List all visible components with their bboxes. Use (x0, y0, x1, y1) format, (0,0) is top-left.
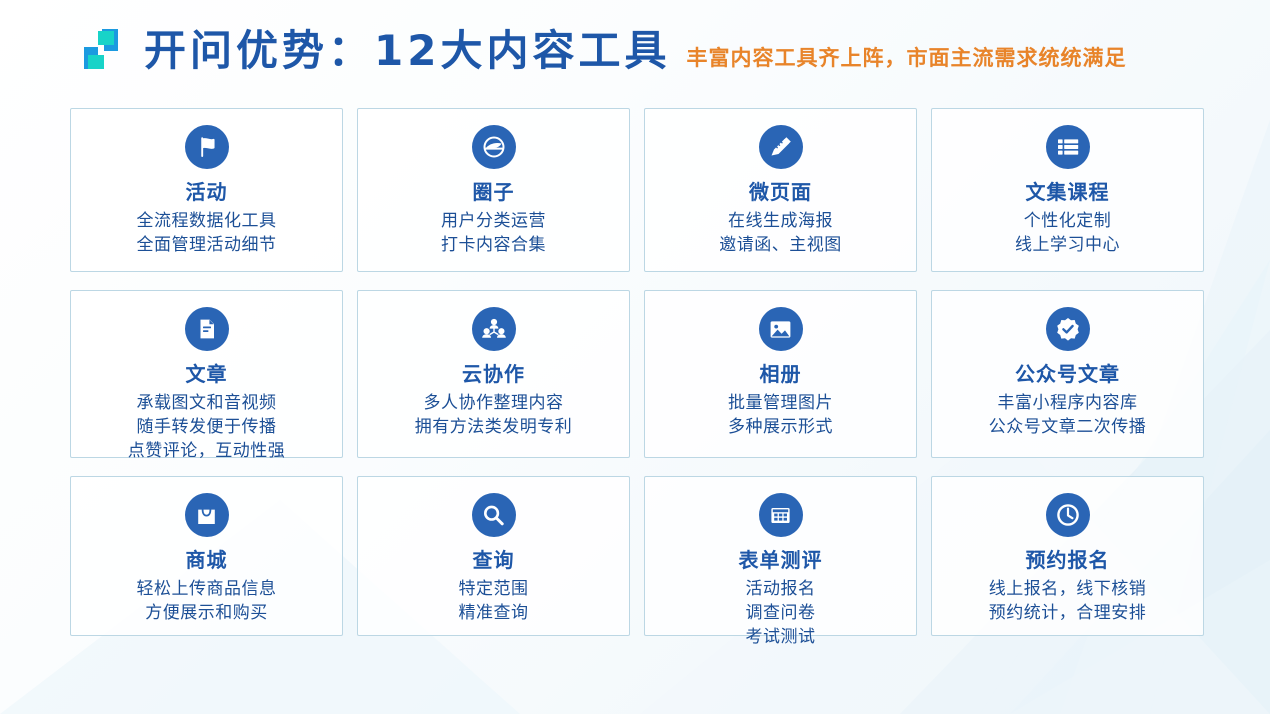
tool-card-description-line: 随手转发便于传播 (128, 415, 286, 439)
tool-card-description: 在线生成海报邀请函、主视图 (719, 209, 842, 257)
tool-card-description: 线上报名，线下核销预约统计，合理安排 (989, 577, 1147, 625)
tool-card-description: 轻松上传商品信息方便展示和购买 (137, 577, 277, 625)
kaiwen-logo-icon (76, 25, 126, 75)
tool-card-description: 特定范围精准查询 (459, 577, 529, 625)
tool-card-description-line: 线上学习中心 (1015, 233, 1120, 257)
tool-card-description: 全流程数据化工具全面管理活动细节 (137, 209, 277, 257)
image-photo-icon (759, 307, 803, 351)
tool-card[interactable]: 商城轻松上传商品信息方便展示和购买 (70, 476, 343, 636)
tool-card[interactable]: 文集课程个性化定制线上学习中心 (931, 108, 1204, 272)
tool-card-description-line: 线上报名，线下核销 (989, 577, 1147, 601)
circle-group-icon (472, 125, 516, 169)
slide-canvas: 开问优势：12大内容工具 丰富内容工具齐上阵，市面主流需求统统满足 活动全流程数… (0, 0, 1270, 714)
list-lines-icon (1046, 125, 1090, 169)
tool-card-description-line: 个性化定制 (1015, 209, 1120, 233)
tool-card[interactable]: 相册批量管理图片多种展示形式 (644, 290, 917, 458)
tool-card-description-line: 打卡内容合集 (441, 233, 546, 257)
tool-card[interactable]: 圈子用户分类运营打卡内容合集 (357, 108, 630, 272)
tool-card-description: 批量管理图片多种展示形式 (728, 391, 833, 439)
search-magnifier-icon (472, 493, 516, 537)
tool-card-title: 商城 (186, 549, 228, 571)
tool-card-description-line: 批量管理图片 (728, 391, 833, 415)
tool-card-description: 承载图文和音视频随手转发便于传播点赞评论，互动性强 (128, 391, 286, 463)
tool-card-description: 个性化定制线上学习中心 (1015, 209, 1120, 257)
tool-card-description: 用户分类运营打卡内容合集 (441, 209, 546, 257)
tool-card-description: 丰富小程序内容库公众号文章二次传播 (989, 391, 1147, 439)
tool-card-description-line: 丰富小程序内容库 (989, 391, 1147, 415)
tool-card[interactable]: 查询特定范围精准查询 (357, 476, 630, 636)
tool-card-description-line: 考试测试 (746, 625, 816, 649)
tool-card-description: 活动报名调查问卷考试测试 (746, 577, 816, 649)
tool-card-description-line: 调查问卷 (746, 601, 816, 625)
tool-card-description-line: 多人协作整理内容 (415, 391, 573, 415)
tool-card[interactable]: 活动全流程数据化工具全面管理活动细节 (70, 108, 343, 272)
tool-card-description-line: 精准查询 (459, 601, 529, 625)
document-icon (185, 307, 229, 351)
tool-card-description-line: 方便展示和购买 (137, 601, 277, 625)
clock-icon (1046, 493, 1090, 537)
tool-card-description-line: 活动报名 (746, 577, 816, 601)
tool-card[interactable]: 文章承载图文和音视频随手转发便于传播点赞评论，互动性强 (70, 290, 343, 458)
ruler-pen-icon (759, 125, 803, 169)
tool-card[interactable]: 公众号文章丰富小程序内容库公众号文章二次传播 (931, 290, 1204, 458)
people-group-icon (472, 307, 516, 351)
tool-card-description: 多人协作整理内容拥有方法类发明专利 (415, 391, 573, 439)
tool-card-title: 预约报名 (1026, 549, 1110, 571)
verified-check-icon (1046, 307, 1090, 351)
tool-card-description-line: 点赞评论，互动性强 (128, 439, 286, 463)
table-grid-icon (759, 493, 803, 537)
tool-card-title: 文章 (186, 363, 228, 385)
tool-card-description-line: 承载图文和音视频 (128, 391, 286, 415)
tool-card-title: 查询 (473, 549, 515, 571)
tool-card-description-line: 用户分类运营 (441, 209, 546, 233)
tool-card-title: 微页面 (749, 181, 812, 203)
tool-card-description-line: 轻松上传商品信息 (137, 577, 277, 601)
tool-card-description-line: 特定范围 (459, 577, 529, 601)
tool-card-description-line: 拥有方法类发明专利 (415, 415, 573, 439)
tool-card[interactable]: 预约报名线上报名，线下核销预约统计，合理安排 (931, 476, 1204, 636)
tool-card-description-line: 在线生成海报 (719, 209, 842, 233)
tool-card-title: 相册 (760, 363, 802, 385)
tool-card-title: 圈子 (473, 181, 515, 203)
tool-card-description-line: 多种展示形式 (728, 415, 833, 439)
tool-card[interactable]: 表单测评活动报名调查问卷考试测试 (644, 476, 917, 636)
tool-card-title: 表单测评 (739, 549, 823, 571)
page-subtitle: 丰富内容工具齐上阵，市面主流需求统统满足 (686, 42, 1126, 72)
tool-card-description-line: 全流程数据化工具 (137, 209, 277, 233)
tool-card-description-line: 预约统计，合理安排 (989, 601, 1147, 625)
tool-card-title: 云协作 (462, 363, 525, 385)
header: 开问优势：12大内容工具 丰富内容工具齐上阵，市面主流需求统统满足 (0, 0, 1270, 100)
page-title: 开问优势：12大内容工具 (144, 30, 670, 72)
tool-card-title: 文集课程 (1026, 181, 1110, 203)
tool-card[interactable]: 微页面在线生成海报邀请函、主视图 (644, 108, 917, 272)
tool-card-title: 公众号文章 (1015, 363, 1120, 385)
tool-card-description-line: 邀请函、主视图 (719, 233, 842, 257)
flag-icon (185, 125, 229, 169)
shopping-bag-icon (185, 493, 229, 537)
tool-card[interactable]: 云协作多人协作整理内容拥有方法类发明专利 (357, 290, 630, 458)
tool-card-description-line: 公众号文章二次传播 (989, 415, 1147, 439)
tool-card-description-line: 全面管理活动细节 (137, 233, 277, 257)
tool-card-title: 活动 (186, 181, 228, 203)
tools-grid: 活动全流程数据化工具全面管理活动细节圈子用户分类运营打卡内容合集微页面在线生成海… (70, 108, 1204, 636)
